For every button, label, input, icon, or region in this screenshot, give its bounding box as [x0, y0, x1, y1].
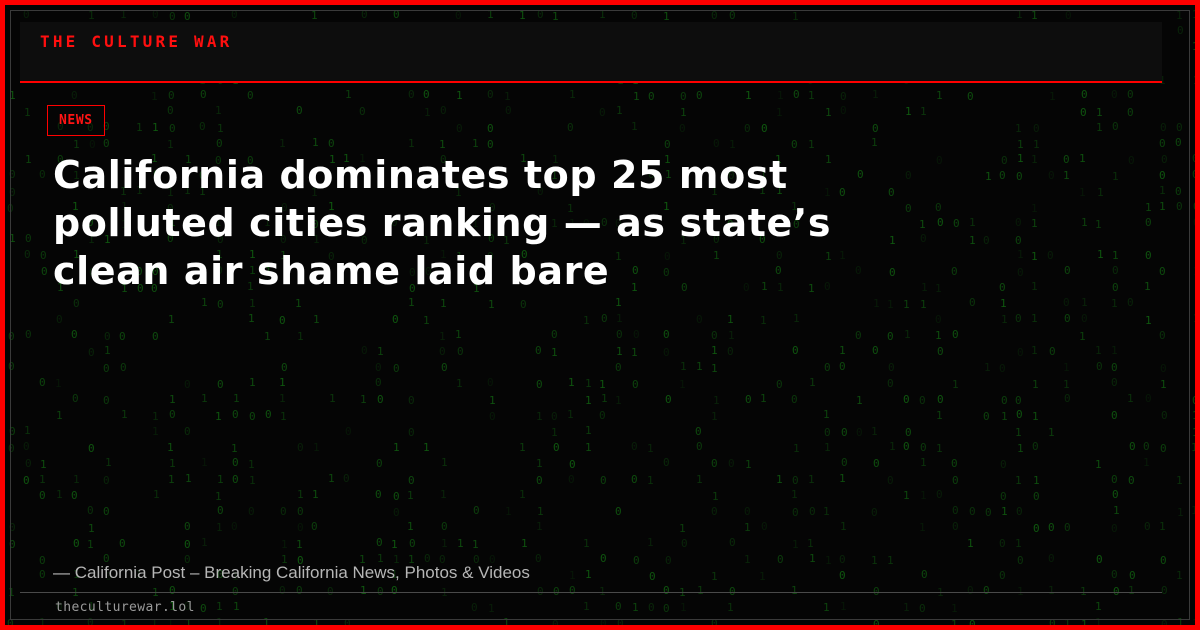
- brand-title: THE CULTURE WAR: [40, 32, 233, 51]
- source-attribution: — California Post – Breaking California …: [53, 563, 530, 583]
- site-url: theculturewar.lol: [55, 600, 195, 615]
- headline: California dominates top 25 most pollute…: [53, 151, 863, 295]
- share-card: 1000100000010001100010001000001100011001…: [0, 0, 1200, 630]
- card-content: THE CULTURE WAR NEWS California dominate…: [5, 5, 1195, 625]
- category-badge: NEWS: [47, 105, 105, 136]
- footer-divider: [20, 592, 1162, 593]
- category-badge-label: NEWS: [59, 113, 93, 128]
